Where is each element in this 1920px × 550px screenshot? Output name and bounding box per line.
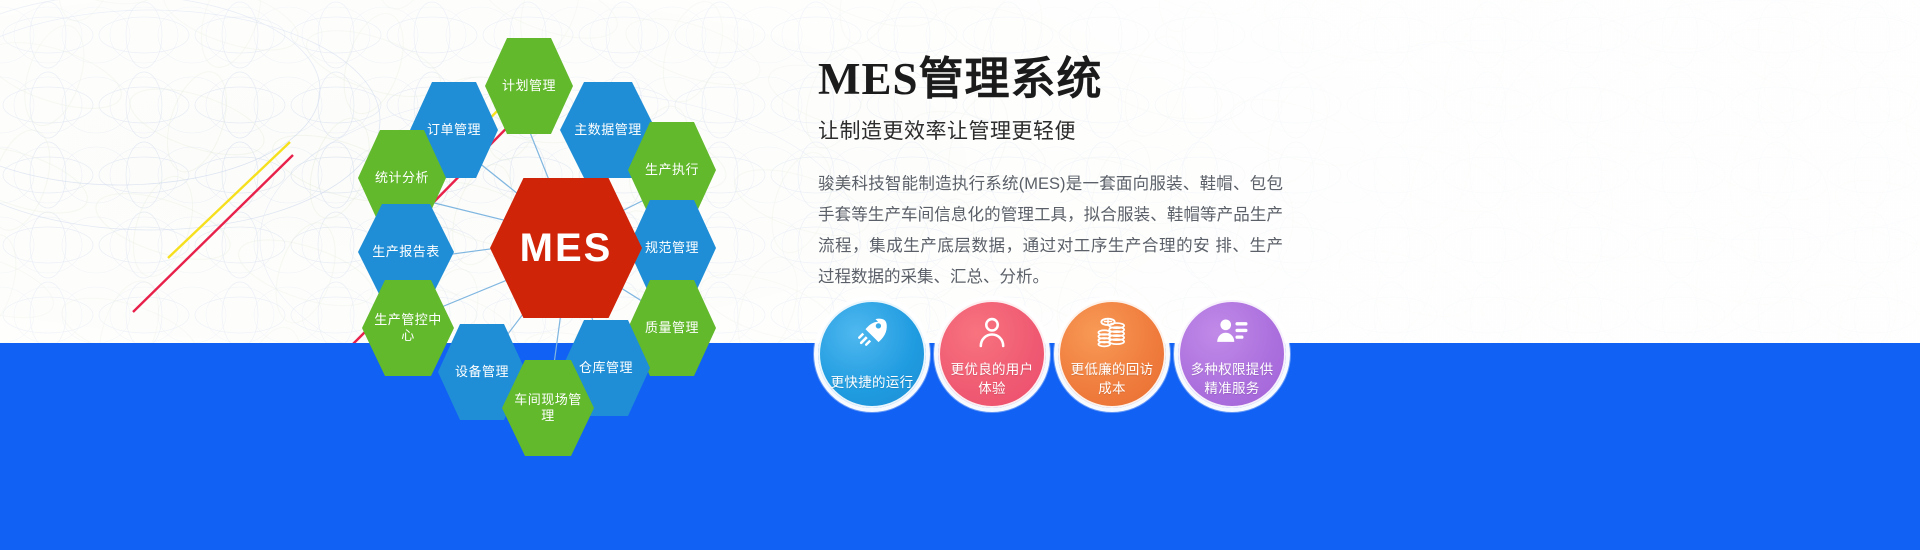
feature-badge-label: 更快捷的运行 bbox=[825, 373, 919, 392]
hero-text-column: MES管理系统 让制造更效率让管理更轻便 骏美科技智能制造执行系统(MES)是一… bbox=[818, 55, 1878, 293]
user-icon bbox=[975, 315, 1009, 349]
page-description: 骏美科技智能制造执行系统(MES)是一套面向服装、鞋帽、包包手套等生产车间信息化… bbox=[818, 169, 1283, 293]
hex-node-label: 统计分析 bbox=[375, 170, 429, 186]
hex-core-label: MES bbox=[520, 223, 613, 273]
hex-node-label: 订单管理 bbox=[427, 122, 481, 138]
hex-node-label: 主数据管理 bbox=[574, 122, 642, 138]
mes-hexagon-diagram: 计划管理订单管理主数据管理统计分析生产执行生产报告表规范管理生产管控中心质量管理… bbox=[330, 20, 800, 440]
hex-node-label: 质量管理 bbox=[645, 320, 699, 336]
hex-node-label: 仓库管理 bbox=[579, 360, 633, 376]
hex-node-label: 规范管理 bbox=[645, 240, 699, 256]
hex-node-label: 生产管控中心 bbox=[373, 312, 443, 345]
feature-badge[interactable]: 更低廉的回访成本 bbox=[1058, 300, 1166, 408]
page-subtitle: 让制造更效率让管理更轻便 bbox=[818, 115, 1878, 145]
hex-node-label: 生产执行 bbox=[645, 162, 699, 178]
contacts-icon bbox=[1215, 315, 1249, 349]
hex-node-label: 设备管理 bbox=[455, 364, 509, 380]
feature-badge[interactable]: 更优良的用户体验 bbox=[938, 300, 1046, 408]
feature-badge-label: 更低廉的回访成本 bbox=[1065, 360, 1159, 398]
hex-node-label: 生产报告表 bbox=[372, 244, 440, 260]
feature-badges: 更快捷的运行更优良的用户体验更低廉的回访成本多种权限提供精准服务 bbox=[818, 300, 1286, 408]
page-title: MES管理系统 bbox=[818, 55, 1878, 105]
hex-node-label: 车间现场管理 bbox=[513, 392, 583, 425]
feature-badge[interactable]: 更快捷的运行 bbox=[818, 300, 926, 408]
coins-icon bbox=[1095, 315, 1129, 349]
feature-badge[interactable]: 多种权限提供精准服务 bbox=[1178, 300, 1286, 408]
feature-badge-label: 更优良的用户体验 bbox=[945, 360, 1039, 398]
mes-banner: 计划管理订单管理主数据管理统计分析生产执行生产报告表规范管理生产管控中心质量管理… bbox=[0, 0, 1920, 550]
hex-node-label: 计划管理 bbox=[502, 78, 556, 94]
feature-badge-label: 多种权限提供精准服务 bbox=[1185, 360, 1279, 398]
rocket-icon bbox=[855, 315, 889, 349]
